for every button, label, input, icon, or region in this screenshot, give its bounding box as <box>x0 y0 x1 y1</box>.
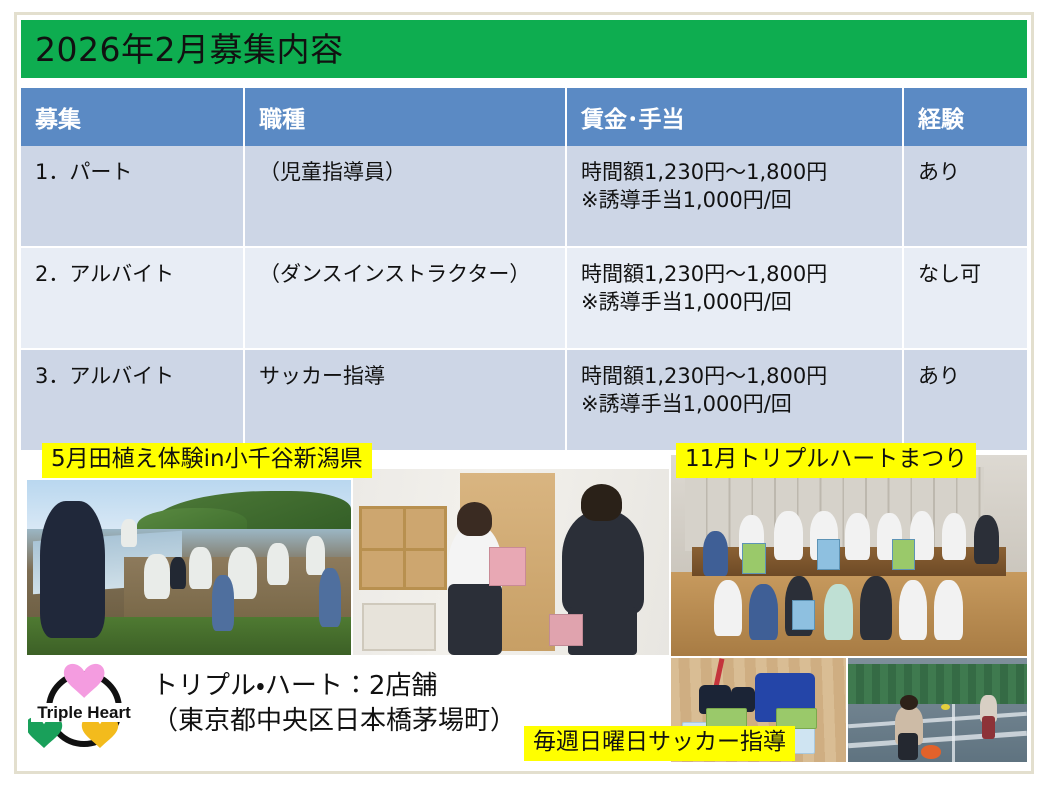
table-row: 1．パート （児童指導員） 時間額1,230円～1,800円 ※誘導手当1,00… <box>21 146 1027 247</box>
cell-wage-line2: ※誘導手当1,000円/回 <box>581 187 902 215</box>
company-location: （東京都中央区日本橋茅場町） <box>152 704 516 739</box>
company-store-count: トリプル・ハート：2店舗 <box>152 669 516 704</box>
column-header-wage: 賃金･手当 <box>566 88 903 146</box>
photo-gallery <box>21 455 1027 655</box>
cell-wage-line1: 時間額1,230円～1,800円 <box>581 363 902 391</box>
cell-experience: あり <box>903 146 1027 247</box>
photo-person <box>703 531 728 575</box>
photo-shelf <box>359 506 447 590</box>
staff-meeting-photo <box>353 469 669 655</box>
cell-recruit: 2．アルバイト <box>21 247 244 349</box>
photo-tshirt-pack <box>742 543 765 573</box>
photo-tshirt-pack <box>817 539 840 569</box>
photo-person <box>189 547 212 589</box>
cell-wage-line2: ※誘導手当1,000円/回 <box>581 289 902 317</box>
page-title: 2026年2月募集内容 <box>21 33 343 66</box>
cell-experience: あり <box>903 349 1027 451</box>
photo-soccer-ball <box>921 745 941 759</box>
cell-occupation: （児童指導員） <box>244 146 566 247</box>
cell-wage-line2: ※誘導手当1,000円/回 <box>581 391 902 419</box>
cell-recruit: 3．アルバイト <box>21 349 244 451</box>
caption-festival: 11月トリプルハートまつり <box>676 443 976 478</box>
photo-person <box>212 575 235 631</box>
photo-person <box>144 554 170 600</box>
soccer-coaching-photo <box>848 658 1027 762</box>
cell-occupation: サッカー指導 <box>244 349 566 451</box>
photo-person <box>774 511 802 559</box>
photo-person <box>267 543 290 585</box>
job-listing-table: 募集 職種 賃金･手当 経験 1．パート （児童指導員） 時間額1,230円～1… <box>21 88 1027 452</box>
photo-person-male <box>562 510 644 614</box>
footer: Triple Heart トリプル・ハート：2店舗 （東京都中央区日本橋茅場町） <box>28 663 548 763</box>
photo-tshirt-pack <box>792 600 815 630</box>
table-row: 3．アルバイト サッカー指導 時間額1,230円～1,800円 ※誘導手当1,0… <box>21 349 1027 451</box>
cell-wage: 時間額1,230円～1,800円 ※誘導手当1,000円/回 <box>566 349 903 451</box>
photo-person <box>974 515 999 563</box>
logo-wordmark: Triple Heart <box>37 703 131 722</box>
festival-group-photo <box>671 455 1027 656</box>
photo-pink-folder <box>549 614 583 646</box>
photo-child-background-legs <box>982 716 995 739</box>
photo-person <box>306 536 325 575</box>
heart-left-icon <box>28 718 62 748</box>
slide-title-bar: 2026年2月募集内容 <box>21 20 1027 78</box>
cell-wage: 時間額1,230円～1,800円 ※誘導手当1,000円/回 <box>566 146 903 247</box>
photo-person-head <box>457 502 492 535</box>
column-header-recruit: 募集 <box>21 88 244 146</box>
photo-person <box>942 513 967 559</box>
photo-person <box>824 584 852 640</box>
photo-cardboard-box <box>362 603 436 652</box>
table-header-row: 募集 職種 賃金･手当 経験 <box>21 88 1027 146</box>
cell-experience: なし可 <box>903 247 1027 349</box>
slide-root: 2026年2月募集内容 募集 職種 賃金･手当 経験 1．パート （児童指導員）… <box>0 0 1048 786</box>
cell-recruit: 1．パート <box>21 146 244 247</box>
triple-heart-logo: Triple Heart <box>28 663 140 755</box>
photo-child-head <box>900 695 918 710</box>
rice-planting-photo <box>27 480 351 655</box>
photo-person <box>899 580 927 640</box>
photo-court-line <box>952 704 955 762</box>
photo-pink-folder <box>489 547 526 586</box>
photo-person-female-lower <box>448 584 502 655</box>
photo-person-head <box>581 484 622 521</box>
column-header-occupation: 職種 <box>244 88 566 146</box>
heart-top-icon <box>64 664 105 698</box>
caption-soccer: 毎週日曜日サッカー指導 <box>524 726 795 761</box>
photo-person <box>934 580 962 640</box>
table-row: 2．アルバイト （ダンスインストラクター） 時間額1,230円～1,800円 ※… <box>21 247 1027 349</box>
cell-wage: 時間額1,230円～1,800円 ※誘導手当1,000円/回 <box>566 247 903 349</box>
photo-green-netting <box>848 664 1027 704</box>
photo-person <box>845 513 870 559</box>
triple-heart-logo-icon: Triple Heart <box>28 663 140 755</box>
photo-person <box>40 501 105 638</box>
photo-person <box>714 580 742 636</box>
company-address: トリプル・ハート：2店舗 （東京都中央区日本橋茅場町） <box>152 669 516 740</box>
photo-child-legs <box>898 733 918 760</box>
cell-wage-line1: 時間額1,230円～1,800円 <box>581 159 902 187</box>
photo-person <box>749 584 777 640</box>
photo-person <box>121 519 137 547</box>
photo-person <box>319 568 342 628</box>
caption-rice-planting: 5月田植え体験in小千谷新潟県 <box>42 443 372 478</box>
photo-ball-small <box>941 704 950 710</box>
cell-wage-line1: 時間額1,230円～1,800円 <box>581 261 902 289</box>
cell-occupation: （ダンスインストラクター） <box>244 247 566 349</box>
photo-person <box>860 576 892 640</box>
photo-tshirt-pack <box>892 539 915 569</box>
photo-person <box>170 557 186 589</box>
column-header-experience: 経験 <box>903 88 1027 146</box>
